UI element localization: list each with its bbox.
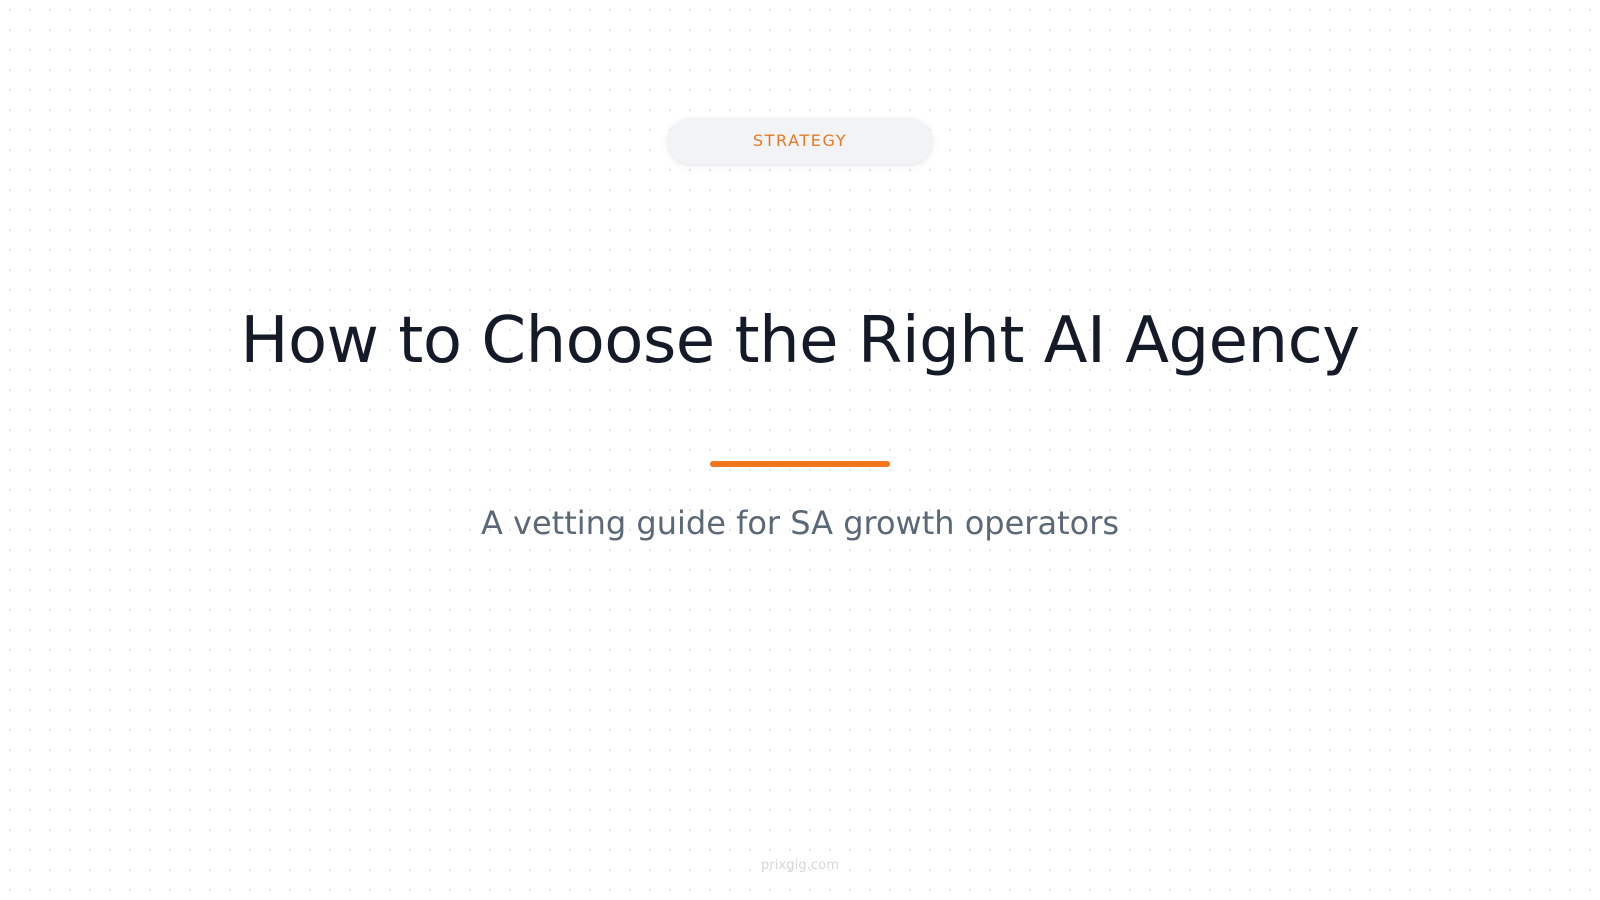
footer-attribution: prixgig.com <box>0 859 1600 872</box>
category-badge-wrapper: STRATEGY <box>668 118 933 164</box>
divider-wrapper <box>710 461 890 467</box>
title-slide: STRATEGY How to Choose the Right AI Agen… <box>0 0 1600 900</box>
category-badge-label: STRATEGY <box>753 133 847 149</box>
category-badge: STRATEGY <box>668 118 933 164</box>
accent-divider <box>710 461 890 467</box>
slide-title: How to Choose the Right AI Agency <box>0 304 1600 380</box>
slide-subtitle: A vetting guide for SA growth operators <box>0 503 1600 545</box>
